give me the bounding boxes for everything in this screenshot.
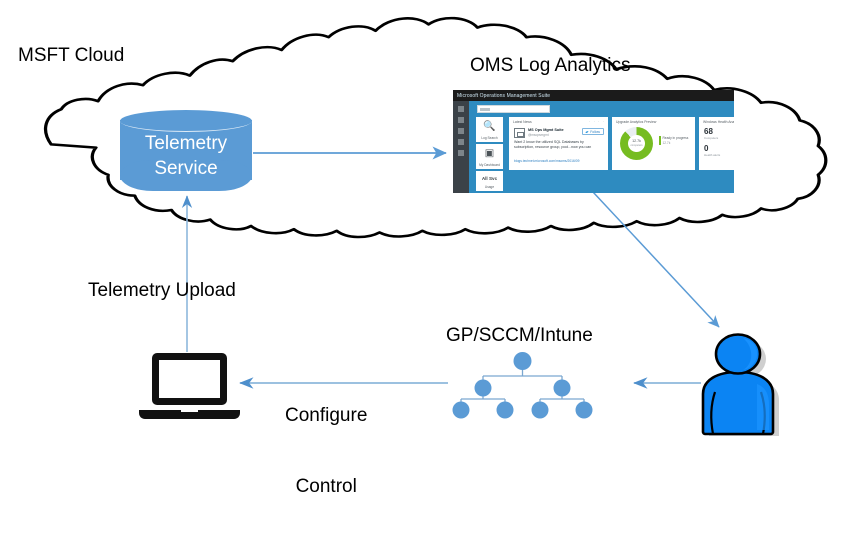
oms-nav-tile-all-services-label: Usage (476, 185, 503, 189)
diagram-canvas: MSFT Cloud OMS Log Analytics Telemetry U… (0, 0, 841, 439)
cylinder-label-line1: Telemetry (120, 131, 252, 156)
telemetry-service-cylinder: Telemetry Service (120, 110, 252, 191)
tree-node-leaf-4 (576, 402, 593, 419)
oms-nav-tile-all-services-title: All Svc (476, 176, 503, 182)
oms-card-upgrade-analytics-header: Upgrade Analytics Preview (616, 120, 656, 125)
cylinder-label: Telemetry Service (120, 131, 252, 181)
stat-alerts-caption: Health alerts (704, 153, 720, 157)
magnifier-icon: 🔍 (483, 122, 495, 132)
tree-node-leaf-1 (453, 402, 470, 419)
cylinder-label-line2: Service (120, 156, 252, 181)
arrow-oms-to-person (593, 192, 719, 327)
donut-value: 12.7k (620, 139, 653, 144)
oms-card-overflow-dots: · · · · (589, 120, 605, 125)
label-oms-log-analytics: OMS Log Analytics (470, 54, 631, 77)
oms-nav-tile-all-services: All Svc Usage (476, 171, 503, 191)
tree-node-leaf-2 (497, 402, 514, 419)
home-icon (458, 106, 464, 112)
admin-person-icon (695, 330, 787, 436)
oms-news-handle: @msopsmgmt (528, 133, 549, 137)
laptop-icon (137, 350, 242, 420)
legend-swatch (659, 136, 661, 145)
news-avatar-icon (514, 128, 525, 138)
stat-alerts-value: 0 (704, 144, 708, 153)
oms-titlebar-text: Microsoft Operations Management Suite (457, 92, 550, 100)
cylinder-top (120, 110, 252, 132)
oms-left-rail (453, 101, 469, 193)
label-configure: Configure (285, 403, 367, 428)
legend-value: 12.7k (663, 141, 671, 145)
search-icon (458, 117, 464, 123)
oms-card-latest-news-header: Latest News (513, 120, 532, 125)
upgrade-analytics-donut-chart: 12.7k computers (620, 127, 653, 160)
settings-icon (458, 150, 464, 156)
tree-node-leaf-3 (532, 402, 549, 419)
label-configure-control: Configure Control (285, 357, 367, 545)
oms-follow-button[interactable]: Follow (582, 128, 604, 135)
search-placeholder-bar (480, 108, 490, 111)
label-control: Control (285, 474, 367, 499)
oms-dashboard-screenshot: Microsoft Operations Management Suite 🔍 … (453, 90, 734, 193)
dashboard-icon (458, 128, 464, 134)
tree-node-mid-left (475, 380, 492, 397)
oms-news-body: Want 2 know the utilized SQL Databases b… (514, 140, 598, 149)
oms-nav-tile-log-search-label: Log Search (476, 136, 503, 140)
oms-nav-tile-my-dashboard: ▣ My Dashboard (476, 144, 503, 169)
stat-computers-value: 68 (704, 127, 713, 136)
label-gp-sccm-intune: GP/SCCM/Intune (446, 324, 593, 347)
oms-nav-tile-log-search: 🔍 Log Search (476, 117, 503, 142)
dashboard-icon: ▣ (485, 149, 494, 159)
alert-icon (458, 139, 464, 145)
oms-titlebar: Microsoft Operations Management Suite (453, 90, 734, 101)
tree-node-mid-right (554, 380, 571, 397)
oms-nav-tile-my-dashboard-label: My Dashboard (476, 163, 503, 167)
stat-computers-caption: Computers (704, 136, 718, 140)
oms-search-input (477, 105, 550, 113)
oms-card-windows-health: Windows Health Analytics Preview 68 Comp… (699, 117, 734, 170)
donut-caption: computers (620, 144, 653, 147)
legend-title: Ready in progress (663, 136, 689, 140)
oms-card-upgrade-analytics: Upgrade Analytics Preview 12.7k computer… (612, 117, 695, 170)
oms-card-windows-health-header: Windows Health Analytics Preview (703, 120, 734, 125)
management-hierarchy-icon (450, 352, 595, 420)
oms-card-latest-news: Latest News · · · · MS Ops Mgmt Suite @m… (509, 117, 608, 170)
tree-node-root (514, 352, 532, 370)
oms-news-link[interactable]: blogs.technet.microsoft.com/msoms/2016/0… (514, 159, 604, 163)
label-msft-cloud: MSFT Cloud (18, 44, 124, 67)
label-telemetry-upload: Telemetry Upload (88, 279, 236, 302)
